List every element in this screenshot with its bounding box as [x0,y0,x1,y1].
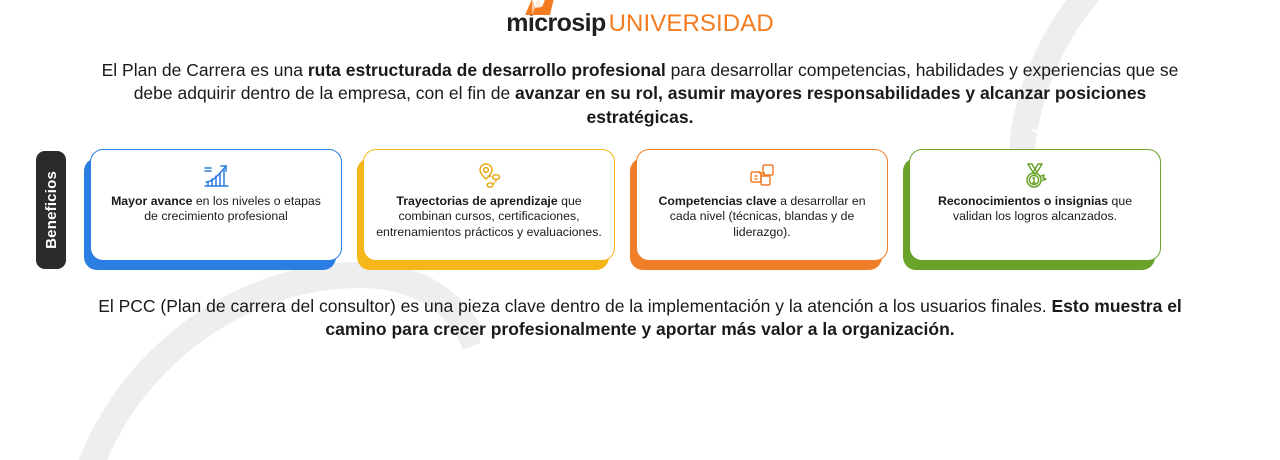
slide-root: microsip UNIVERSIDAD El Plan de Carrera … [0,0,1280,460]
microsip-universidad-logo: microsip UNIVERSIDAD [506,11,774,36]
intro-paragraph: El Plan de Carrera es una ruta estructur… [80,59,1200,129]
card-body: Trayectorias de aprendizaje que combinan… [363,149,615,261]
card-text: Trayectorias de aprendizaje que combinan… [376,194,602,241]
benefits-section: Beneficios [0,149,1280,269]
puzzle-blocks-icon [748,159,776,193]
medal-award-icon [1021,159,1049,193]
benefits-tab: Beneficios [36,151,66,269]
logo-product-text: UNIVERSIDAD [609,12,774,36]
route-pin-icon [475,159,503,193]
benefit-card[interactable]: Reconocimientos o insignias que validan … [909,149,1161,261]
brand-header: microsip UNIVERSIDAD [0,0,1280,36]
card-text: Competencias clave a desarrollar en cada… [649,194,875,241]
bar-chart-growth-icon [202,159,230,193]
benefit-card[interactable]: Competencias clave a desarrollar en cada… [636,149,888,261]
card-body: Competencias clave a desarrollar en cada… [636,149,888,261]
card-text: Reconocimientos o insignias que validan … [922,194,1148,225]
card-text: Mayor avance en los niveles o etapas de … [103,194,329,225]
card-body: Mayor avance en los niveles o etapas de … [90,149,342,261]
benefit-card-list: Mayor avance en los niveles o etapas de … [90,149,1161,261]
microsip-flame-icon [523,0,557,22]
benefit-card[interactable]: Trayectorias de aprendizaje que combinan… [363,149,615,261]
benefit-card[interactable]: Mayor avance en los niveles o etapas de … [90,149,342,261]
outro-paragraph: El PCC (Plan de carrera del consultor) e… [85,295,1195,342]
benefits-tab-label: Beneficios [43,171,60,249]
card-body: Reconocimientos o insignias que validan … [909,149,1161,261]
